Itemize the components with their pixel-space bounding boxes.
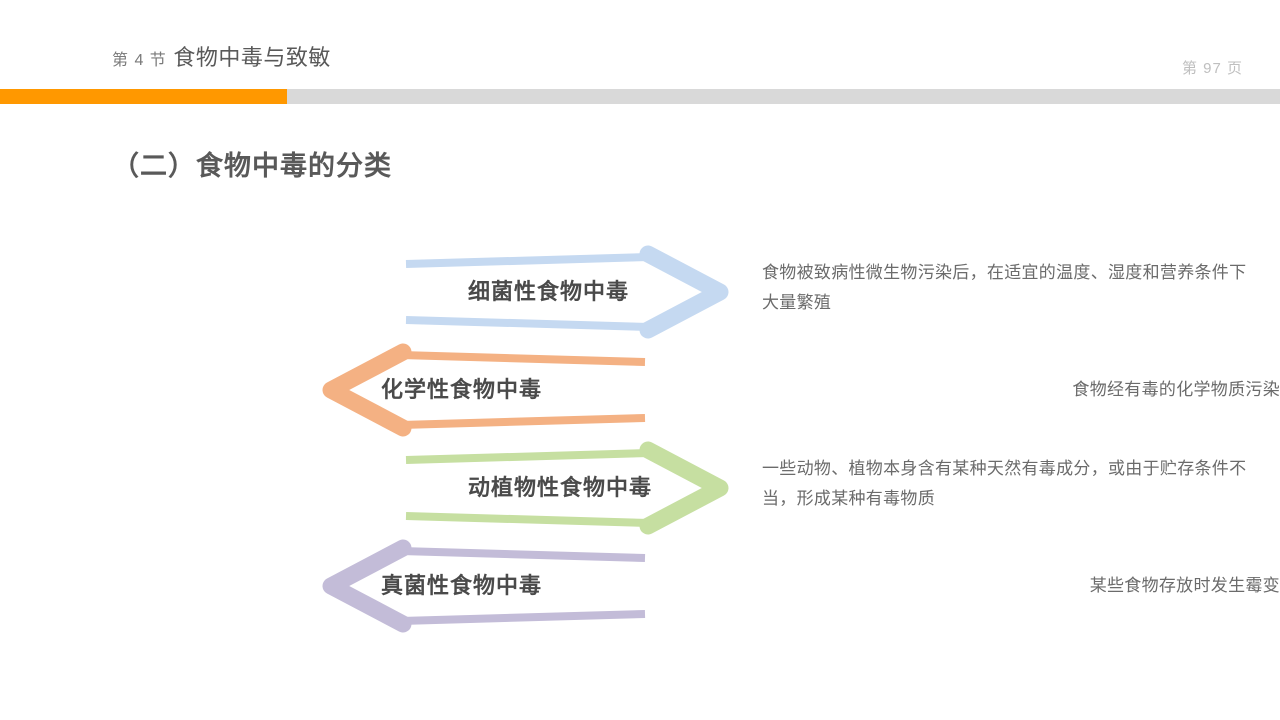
header-rule-bar [0, 89, 1280, 104]
header-title: 第 4 节 食物中毒与致敏 [112, 40, 331, 72]
row-description: 一些动物、植物本身含有某种天然有毒成分，或由于贮存条件不当，形成某种有毒物质 [762, 454, 1262, 514]
diagram-row: 动植物性食物中毒 一些动物、植物本身含有某种天然有毒成分，或由于贮存条件不当，形… [0, 438, 1280, 538]
page-number: 第 97 页 [1182, 57, 1243, 78]
diagram-row: 食物经有毒的化学物质污染 化学性食物中毒 [0, 340, 1280, 440]
slide-header: 第 4 节 食物中毒与致敏 第 97 页 [0, 0, 1280, 104]
header-section-number: 第 4 节 [112, 52, 167, 69]
arrow-fungal: 真菌性食物中毒 [313, 536, 653, 636]
header-section-title: 食物中毒与致敏 [173, 45, 331, 70]
arrow-bacterial: 细菌性食物中毒 [398, 242, 738, 342]
classification-diagram: 细菌性食物中毒 食物被致病性微生物污染后，在适宜的温度、湿度和营养条件下大量繁殖… [0, 230, 1280, 650]
arrow-label: 化学性食物中毒 [381, 340, 542, 440]
header-rule-accent [0, 89, 287, 104]
arrow-label: 细菌性食物中毒 [468, 242, 629, 342]
arrow-animal-plant: 动植物性食物中毒 [398, 438, 738, 538]
arrow-label: 动植物性食物中毒 [468, 438, 652, 538]
arrow-head-0 [648, 254, 720, 330]
diagram-row: 某些食物存放时发生霉变 真菌性食物中毒 [0, 536, 1280, 636]
diagram-row: 细菌性食物中毒 食物被致病性微生物污染后，在适宜的温度、湿度和营养条件下大量繁殖 [0, 242, 1280, 342]
arrow-head-2 [648, 450, 720, 526]
row-description: 食物被致病性微生物污染后，在适宜的温度、湿度和营养条件下大量繁殖 [762, 258, 1262, 318]
page-title: （二）食物中毒的分类 [112, 144, 392, 183]
arrow-label: 真菌性食物中毒 [381, 536, 542, 636]
arrow-chemical: 化学性食物中毒 [313, 340, 653, 440]
